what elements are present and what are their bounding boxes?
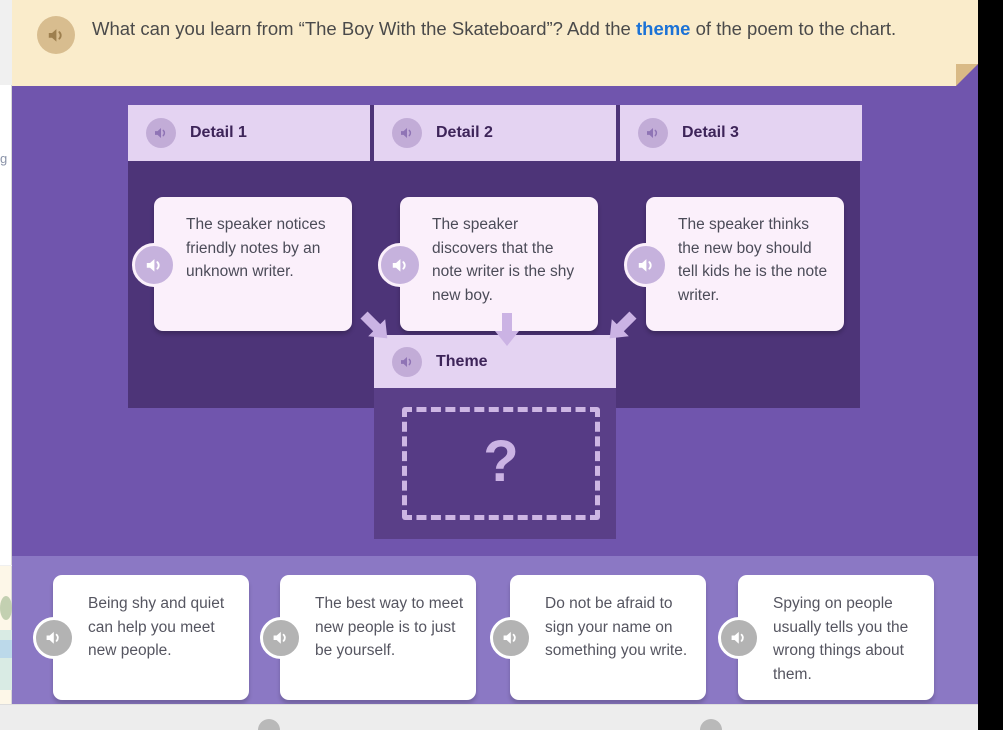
detail-card-1: The speaker notices friendly notes by an… (154, 197, 352, 331)
detail-header-label-1: Detail 1 (190, 124, 247, 142)
detail-header-label-3: Detail 3 (682, 124, 739, 142)
banner-fold-corner (956, 64, 978, 86)
speaker-icon[interactable] (146, 118, 176, 148)
answer-card-text: Spying on people usually tells you the w… (773, 592, 923, 686)
right-edge-letterbox (978, 0, 1003, 730)
theme-dropzone[interactable]: ? (402, 407, 600, 520)
answer-card-text: The best way to meet new people is to ju… (315, 592, 465, 663)
background-left-swatch-green (0, 630, 12, 690)
instruction-banner: What can you learn from “The Boy With th… (12, 0, 978, 86)
detail-card-text-3: The speaker thinks the new boy should te… (678, 213, 830, 307)
background-left-swatch-blue (0, 640, 12, 658)
speaker-icon[interactable] (33, 617, 75, 659)
detail-column-1: Detail 1 The speaker notices friendly no… (128, 105, 370, 408)
answer-card[interactable]: Being shy and quiet can help you meet ne… (53, 575, 249, 700)
speaker-icon[interactable] (378, 243, 422, 287)
theme-header-label: Theme (436, 353, 488, 371)
speaker-icon[interactable] (638, 118, 668, 148)
detail-header-2[interactable]: Detail 2 (374, 105, 616, 161)
answer-card[interactable]: The best way to meet new people is to ju… (280, 575, 476, 700)
speaker-icon[interactable] (132, 243, 176, 287)
dropzone-placeholder: ? (483, 433, 518, 491)
bottom-dot-right (700, 719, 722, 730)
instruction-text-before: What can you learn from “The Boy With th… (92, 18, 636, 39)
bottom-bar (0, 704, 978, 730)
activity-stage: Detail 1 The speaker notices friendly no… (12, 85, 978, 704)
theme-keyword-link[interactable]: theme (636, 18, 691, 39)
detail-header-3[interactable]: Detail 3 (620, 105, 862, 161)
detail-card-text-2: The speaker discovers that the note writ… (432, 213, 584, 307)
answer-card[interactable]: Do not be afraid to sign your name on so… (510, 575, 706, 700)
instruction-text: What can you learn from “The Boy With th… (92, 14, 932, 43)
answer-card-text: Do not be afraid to sign your name on so… (545, 592, 695, 663)
theme-block: Theme ? (374, 335, 616, 539)
activity-screen: g s u n Detail 1 (0, 0, 1003, 730)
detail-card-3: The speaker thinks the new boy should te… (646, 197, 844, 331)
background-left-avatar (0, 596, 12, 620)
detail-column-3: Detail 3 The speaker thinks the new boy … (620, 105, 862, 408)
speaker-icon[interactable] (260, 617, 302, 659)
answer-card-text: Being shy and quiet can help you meet ne… (88, 592, 238, 663)
speaker-icon[interactable] (392, 118, 422, 148)
speaker-icon[interactable] (392, 347, 422, 377)
speaker-icon[interactable] (624, 243, 668, 287)
detail-card-2: The speaker discovers that the note writ… (400, 197, 598, 331)
detail-header-label-2: Detail 2 (436, 124, 493, 142)
instruction-text-after: of the poem to the chart. (690, 18, 896, 39)
detail-header-1[interactable]: Detail 1 (128, 105, 370, 161)
arrow-down-icon (494, 313, 520, 347)
answer-tray: Being shy and quiet can help you meet ne… (12, 556, 978, 704)
detail-card-text-1: The speaker notices friendly notes by an… (186, 213, 338, 284)
speaker-icon[interactable] (37, 16, 75, 54)
speaker-icon[interactable] (490, 617, 532, 659)
background-left-text: g s u n (0, 140, 11, 177)
speaker-icon[interactable] (718, 617, 760, 659)
answer-card[interactable]: Spying on people usually tells you the w… (738, 575, 934, 700)
bottom-dot-left (258, 719, 280, 730)
